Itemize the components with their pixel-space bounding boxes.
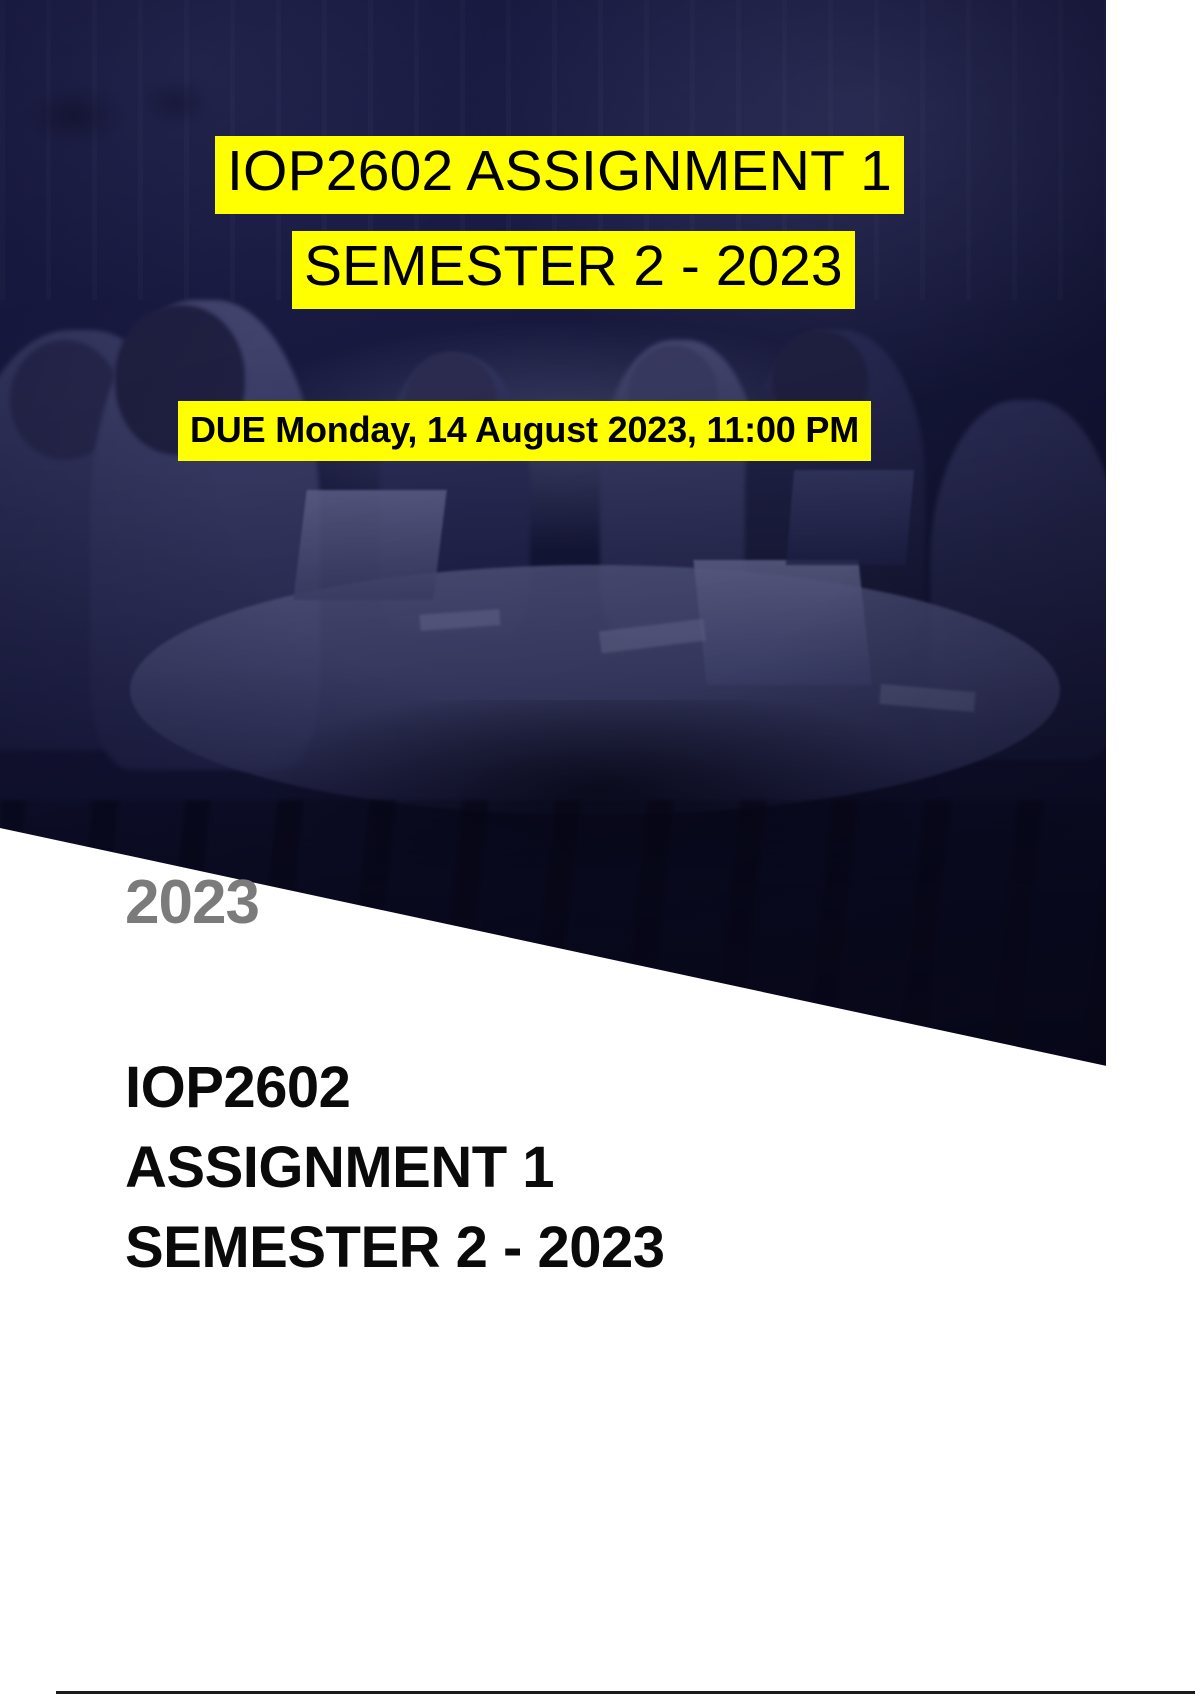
hero-title-line-1: IOP2602 ASSIGNMENT 1	[215, 136, 904, 214]
heading-line-assignment: ASSIGNMENT 1	[125, 1128, 665, 1208]
year-label: 2023	[125, 868, 259, 938]
document-heading: IOP2602 ASSIGNMENT 1 SEMESTER 2 - 2023	[125, 1048, 665, 1288]
right-page-margin	[1106, 0, 1200, 1100]
heading-line-semester: SEMESTER 2 - 2023	[125, 1208, 665, 1288]
footer-divider	[56, 1691, 1195, 1694]
cover-page: IOP2602 ASSIGNMENT 1 SEMESTER 2 - 2023 D…	[0, 0, 1200, 1700]
hero-title-line-2: SEMESTER 2 - 2023	[292, 231, 855, 309]
due-date-banner: DUE Monday, 14 August 2023, 11:00 PM	[178, 401, 871, 461]
heading-line-module: IOP2602	[125, 1048, 665, 1128]
